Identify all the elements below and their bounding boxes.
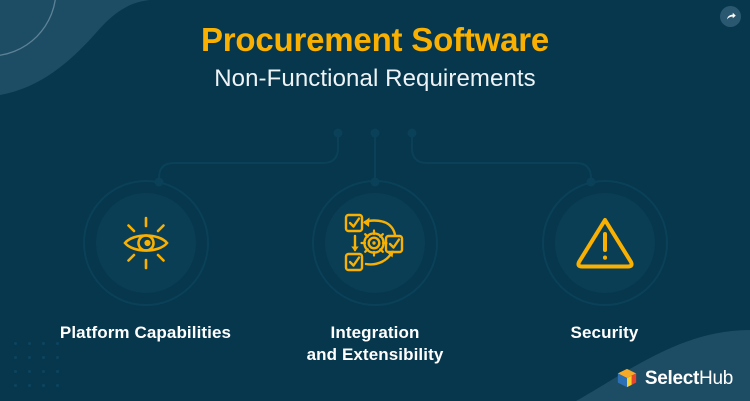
requirement-label: Security [571,322,639,344]
eye-rays-icon [113,210,179,276]
selecthub-wordmark: SelectHub [645,369,733,388]
requirements-list: Platform Capabilities [0,180,750,366]
requirement-label: Integration and Extensibility [307,322,444,366]
requirement-label: Platform Capabilities [60,322,231,344]
requirement-item-integration-and-extensibility[interactable]: Integration and Extensibility [278,180,473,366]
logo-name-bold: Select [645,368,699,389]
icon-badge [83,180,209,306]
warning-triangle-icon [572,210,638,276]
gear-checkboxes-cycle-icon [342,210,408,276]
slide-canvas: Procurement Software Non-Functional Requ… [0,0,750,401]
logo-name-light: Hub [699,368,733,389]
icon-badge [312,180,438,306]
requirement-item-security[interactable]: Security [507,180,702,366]
connector-dot-top-right [408,129,417,138]
selecthub-hexagon-icon [616,367,638,389]
requirement-item-platform-capabilities[interactable]: Platform Capabilities [48,180,243,366]
connector-dot-top-middle [371,129,380,138]
icon-badge [542,180,668,306]
selecthub-logo[interactable]: SelectHub [616,367,733,389]
connector-dot-top-left [334,129,343,138]
